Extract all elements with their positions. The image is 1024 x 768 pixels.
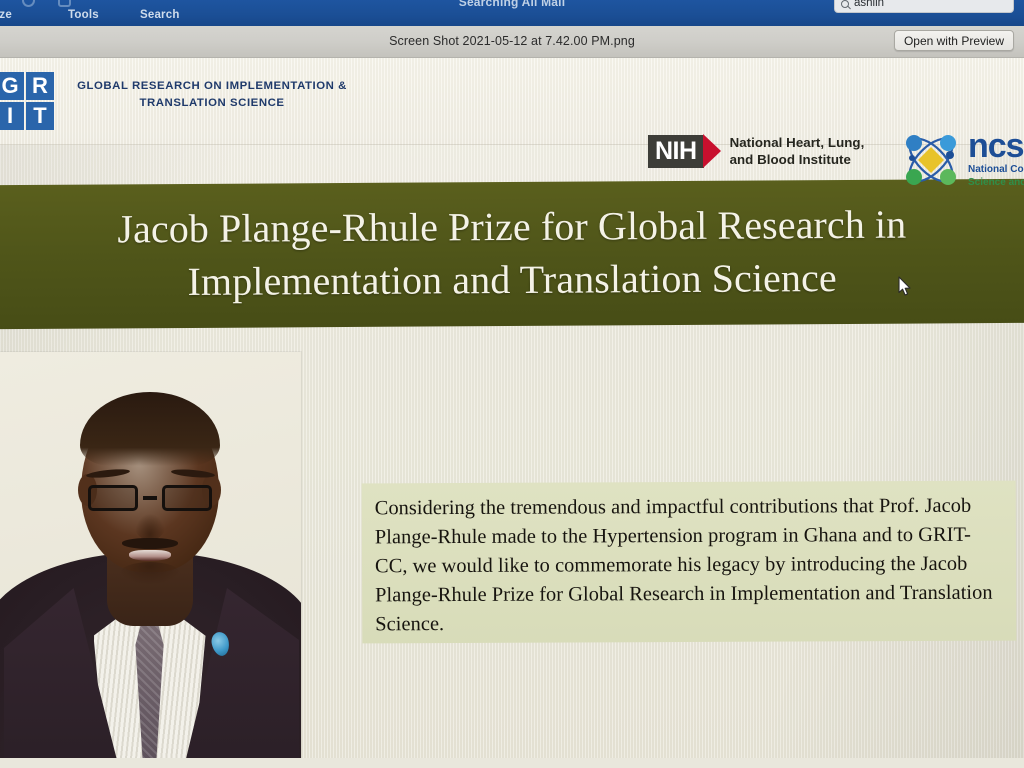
portrait-lens-right bbox=[162, 485, 212, 511]
page-title-line1: Jacob Plange-Rhule Prize for Global Rese… bbox=[14, 198, 1009, 257]
nih-logo: NIH National Heart, Lung, and Blood Inst… bbox=[648, 134, 864, 168]
ncs-logo: ncs National Co Science and Te bbox=[900, 130, 1024, 190]
ncs-wordmark: ncs National Co Science and Te bbox=[968, 131, 1024, 188]
ncs-wordmark-line1: National Co bbox=[968, 163, 1024, 176]
portrait-nose bbox=[135, 514, 165, 540]
nih-chevron-icon bbox=[703, 134, 721, 168]
mouse-cursor-icon bbox=[898, 276, 912, 297]
nih-institute-name: National Heart, Lung, and Blood Institut… bbox=[730, 134, 865, 168]
page-title-line2: Implementation and Translation Science bbox=[15, 251, 1010, 310]
portrait-hair bbox=[80, 392, 220, 466]
grit-logo-icon: G R I T bbox=[0, 72, 54, 130]
search-icon bbox=[841, 0, 849, 8]
grit-letter-r: R bbox=[26, 72, 54, 100]
menu-item-search[interactable]: Search bbox=[140, 9, 180, 21]
atom-logo-icon bbox=[900, 130, 962, 190]
menu-item-organize[interactable]: ize bbox=[0, 9, 12, 21]
slide-title-banner: Jacob Plange-Rhule Prize for Global Rese… bbox=[0, 179, 1024, 329]
body-text-box: Considering the tremendous and impactful… bbox=[362, 481, 1017, 644]
portrait-chin bbox=[120, 562, 180, 584]
page-title: Jacob Plange-Rhule Prize for Global Rese… bbox=[14, 198, 1009, 310]
portrait-mustache bbox=[122, 538, 178, 549]
grit-wordmark-line1: GLOBAL RESEARCH ON IMPLEMENTATION & bbox=[62, 78, 362, 95]
slide-canvas: G R I T GLOBAL RESEARCH ON IMPLEMENTATIO… bbox=[0, 58, 1024, 758]
nih-logo-icon: NIH bbox=[648, 134, 721, 168]
search-input-value: ashlin bbox=[854, 0, 884, 9]
portrait-photo bbox=[0, 352, 301, 758]
nih-institute-line2: and Blood Institute bbox=[730, 151, 865, 168]
screenshot-root: ize Tools Search Searching All Mail ashl… bbox=[0, 0, 1024, 768]
nih-mark-text: NIH bbox=[648, 135, 704, 168]
nih-institute-line1: National Heart, Lung, bbox=[730, 134, 865, 151]
search-input[interactable]: ashlin bbox=[834, 0, 1014, 13]
ncs-wordmark-line2: Science and Te bbox=[968, 176, 1024, 189]
quicklook-filename: Screen Shot 2021-05-12 at 7.42.00 PM.png bbox=[0, 34, 1024, 48]
portrait-lens-left bbox=[88, 485, 138, 511]
ncs-mark-text: ncs bbox=[968, 131, 1024, 162]
grit-wordmark: GLOBAL RESEARCH ON IMPLEMENTATION & TRAN… bbox=[62, 78, 362, 112]
mail-window-toolbar: ize Tools Search Searching All Mail ashl… bbox=[0, 0, 1024, 26]
portrait-glasses-bridge bbox=[143, 496, 157, 500]
body-text: Considering the tremendous and impactful… bbox=[375, 492, 1004, 640]
slide-logo-header: G R I T GLOBAL RESEARCH ON IMPLEMENTATIO… bbox=[0, 58, 1024, 145]
grit-wordmark-line2: TRANSLATION SCIENCE bbox=[62, 95, 362, 112]
grit-letter-i: I bbox=[0, 102, 24, 130]
quicklook-titlebar: Screen Shot 2021-05-12 at 7.42.00 PM.png… bbox=[0, 26, 1024, 58]
portrait-mouth bbox=[129, 550, 171, 561]
open-with-preview-button[interactable]: Open with Preview bbox=[894, 30, 1014, 51]
portrait-glasses bbox=[88, 484, 212, 512]
grit-letter-g: G bbox=[0, 72, 24, 100]
grit-letter-t: T bbox=[26, 102, 54, 130]
menu-item-tools[interactable]: Tools bbox=[68, 9, 99, 21]
